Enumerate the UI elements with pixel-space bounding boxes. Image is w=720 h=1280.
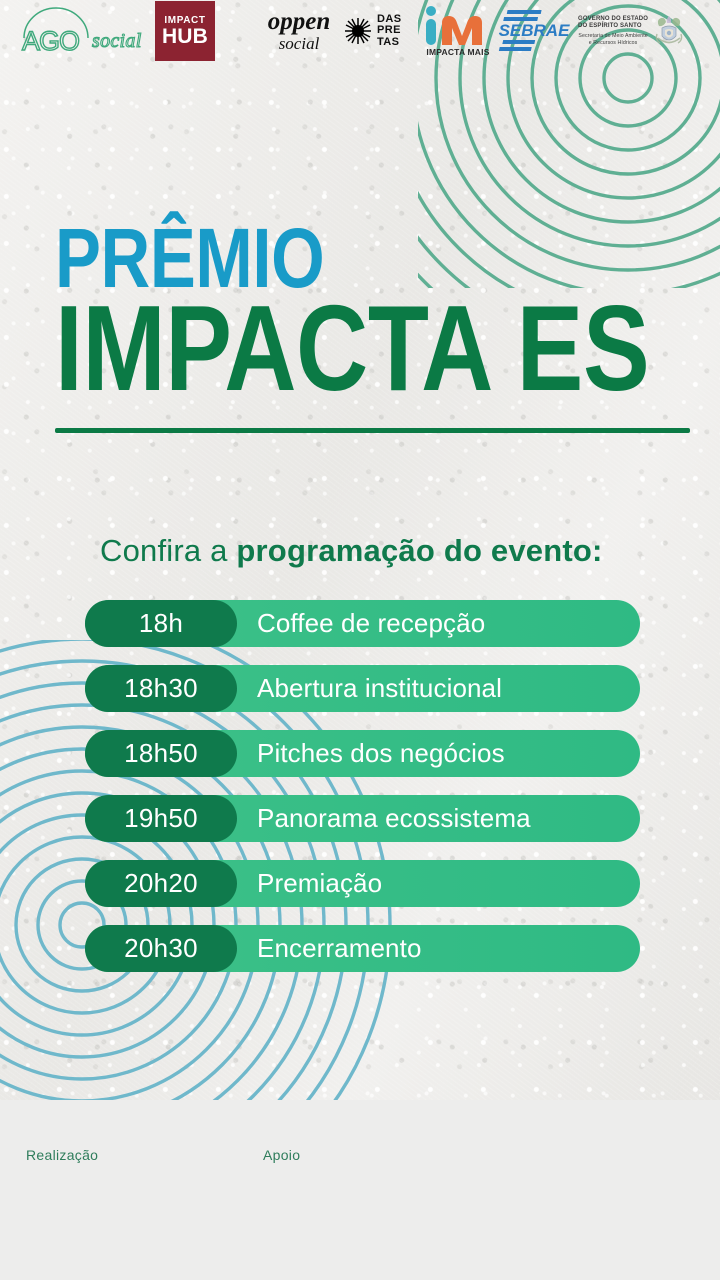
schedule-item-label: Premiação [257, 860, 382, 907]
schedule-item-label: Panorama ecossistema [257, 795, 531, 842]
governo-line2: DO ESPÍRITO SANTO [578, 23, 642, 29]
logo-das-pretas: DAS PRE TAS [345, 0, 417, 62]
starburst-icon [345, 18, 371, 44]
impacta-mais-caption: IMPACTA MAIS [420, 47, 496, 57]
logo-oppen-social: oppen social [258, 0, 340, 62]
subtitle-regular-text: Confira a [100, 533, 236, 568]
footer-sponsor-band [0, 1100, 720, 1280]
title-impacta-es: IMPACTA ES [55, 296, 580, 401]
schedule-time-pill: 18h50 [85, 730, 237, 777]
governo-line3: Secretaria do Meio Ambiente [578, 33, 647, 39]
governo-line1: GOVERNO DO ESTADO [578, 16, 648, 22]
schedule-row: 18h50 Pitches dos negócios [85, 730, 640, 777]
schedule-item-label: Coffee de recepção [257, 600, 485, 647]
oppen-logo-text: oppen [258, 9, 340, 34]
schedule-time-pill: 18h30 [85, 665, 237, 712]
logo-impacta-mais: IMPACTA MAIS [420, 0, 496, 62]
schedule-time-pill: 18h [85, 600, 237, 647]
subtitle-bold-text: programação do evento: [236, 533, 602, 568]
impact-hub-line2: HUB [162, 26, 208, 47]
title-divider-rule [55, 428, 690, 433]
footer-heading-apoio: Apoio [263, 1147, 300, 1163]
logo-impact-hub: IMPACT HUB [155, 0, 217, 62]
logo-governo-espirito-santo: GOVERNO DO ESTADO DO ESPÍRITO SANTO Secr… [578, 0, 704, 62]
logo-sebrae: SEBRAE [498, 0, 570, 62]
governo-line4: e Recursos Hídricos [589, 40, 638, 46]
schedule-list: 18h Coffee de recepção 18h30 Abertura in… [85, 600, 640, 990]
ago-logo-subtext: social [92, 30, 142, 53]
ago-logo-text: AGO [22, 26, 79, 57]
schedule-time-pill: 20h30 [85, 925, 237, 972]
sebrae-wordmark: SEBRAE [499, 21, 570, 40]
das-pretas-line2: PRE [377, 24, 401, 36]
das-pretas-line1: DAS [377, 13, 401, 25]
poster-headline: PRÊMIO IMPACTA ES [55, 222, 695, 401]
schedule-item-label: Abertura institucional [257, 665, 502, 712]
logo-ago-social: AGO social [18, 0, 144, 62]
schedule-item-label: Encerramento [257, 925, 422, 972]
footer-heading-realizacao: Realização [26, 1147, 98, 1163]
schedule-item-label: Pitches dos negócios [257, 730, 505, 777]
event-poster: PRÊMIO IMPACTA ES Confira a programação … [0, 0, 720, 1280]
coat-of-arms-icon [653, 14, 685, 48]
oppen-logo-subtext: social [258, 34, 340, 54]
schedule-row: 18h30 Abertura institucional [85, 665, 640, 712]
das-pretas-line3: TAS [377, 36, 399, 48]
schedule-time-pill: 20h20 [85, 860, 237, 907]
schedule-time-pill: 19h50 [85, 795, 237, 842]
schedule-row: 20h30 Encerramento [85, 925, 640, 972]
schedule-row: 18h Coffee de recepção [85, 600, 640, 647]
schedule-row: 19h50 Panorama ecossistema [85, 795, 640, 842]
subtitle: Confira a programação do evento: [100, 533, 603, 569]
schedule-row: 20h20 Premiação [85, 860, 640, 907]
